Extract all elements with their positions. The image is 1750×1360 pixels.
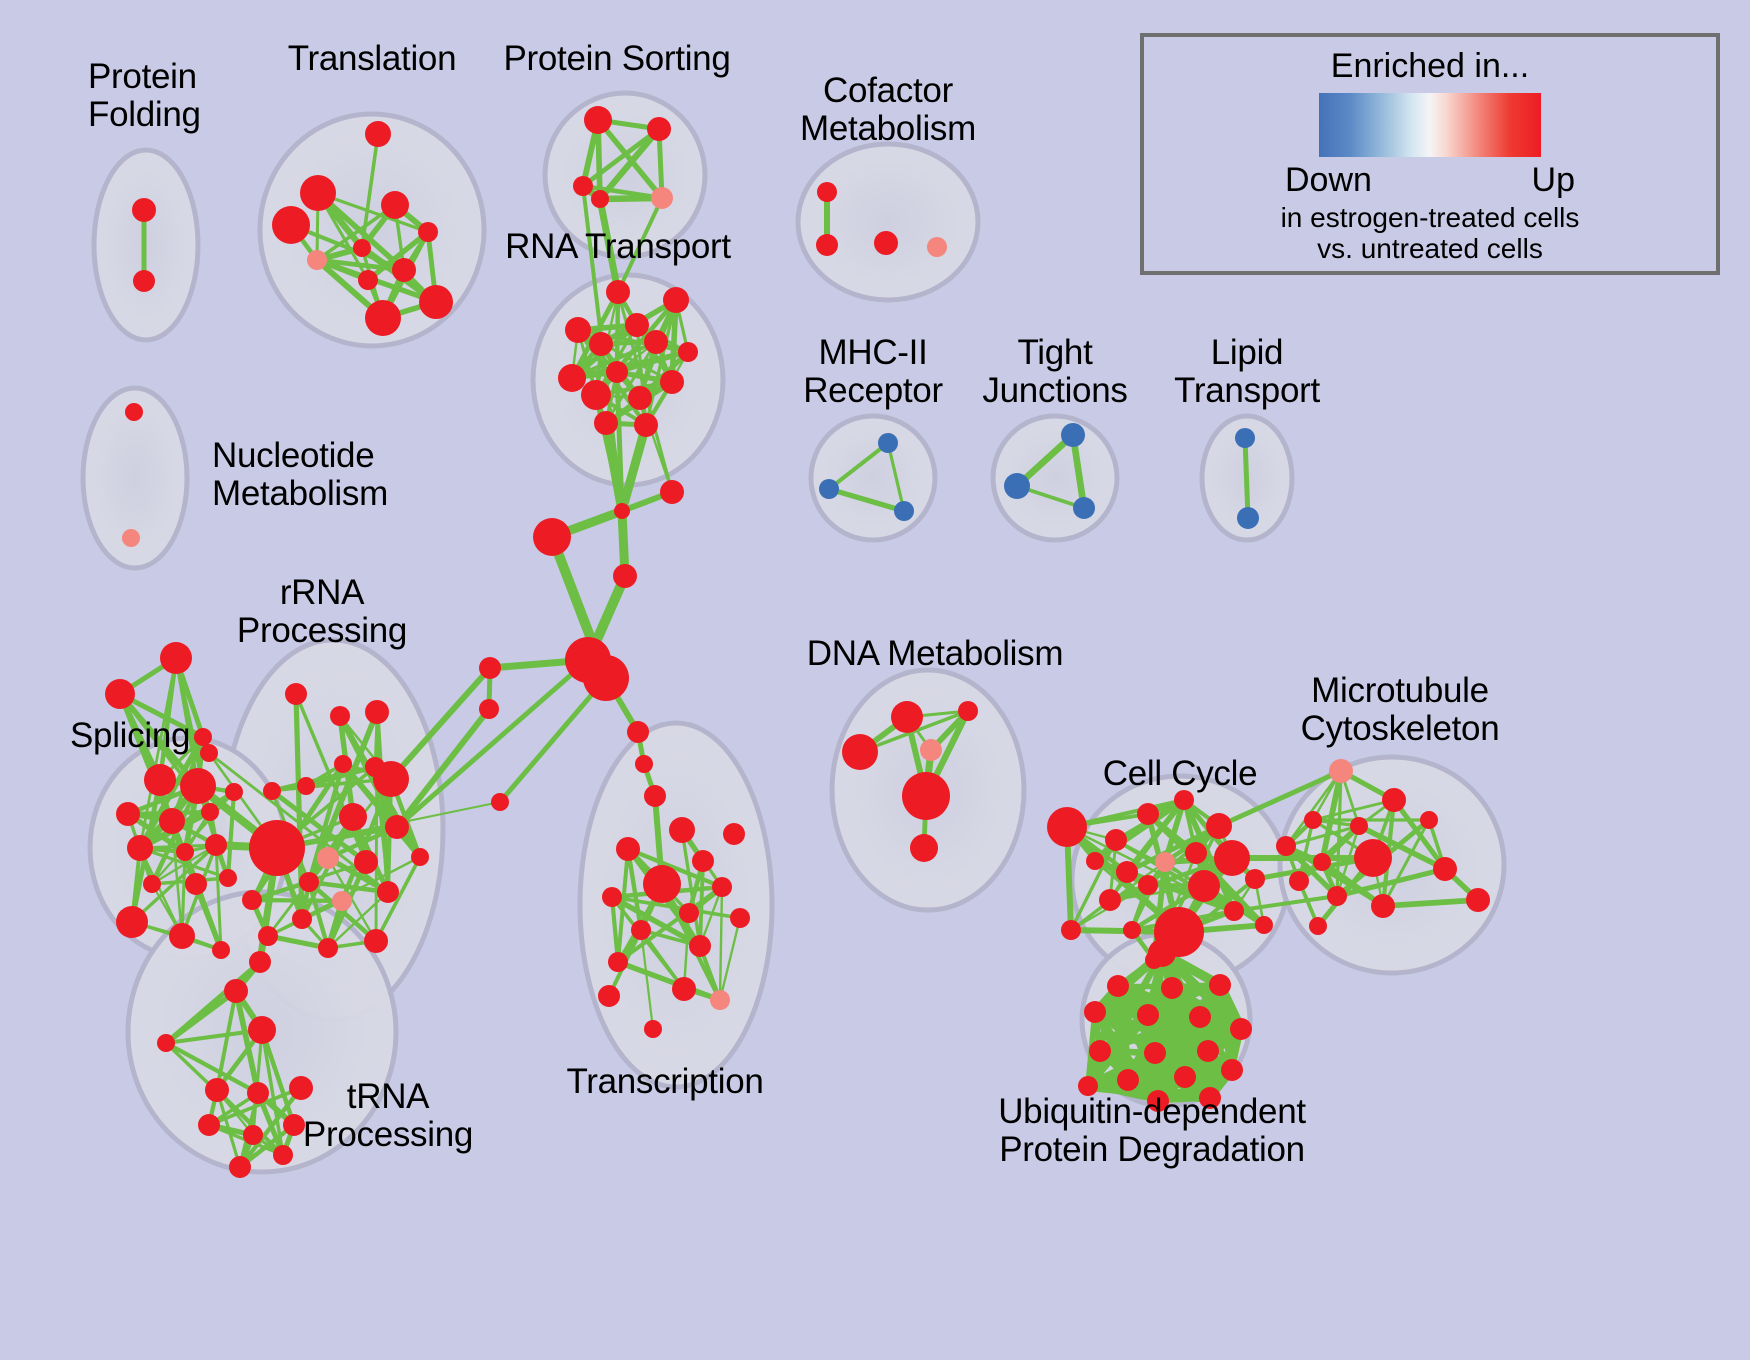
network-node[interactable] (842, 734, 878, 770)
network-node[interactable] (339, 803, 367, 831)
network-node[interactable] (318, 938, 338, 958)
network-node[interactable] (1185, 842, 1207, 864)
network-node[interactable] (692, 850, 714, 872)
cluster-label-lipid_transport: Lipid Transport (1174, 334, 1320, 410)
network-node[interactable] (565, 317, 591, 343)
network-node[interactable] (1047, 807, 1087, 847)
network-node[interactable] (643, 865, 681, 903)
network-node[interactable] (1224, 901, 1244, 921)
network-node[interactable] (1235, 428, 1255, 448)
network-node[interactable] (354, 850, 378, 874)
network-node[interactable] (1255, 916, 1273, 934)
legend-panel: Enriched in... Down Up in estrogen-treat… (1140, 33, 1720, 275)
network-node[interactable] (132, 198, 156, 222)
network-node[interactable] (1155, 852, 1175, 872)
cluster-label-rrna_processing: rRNA Processing (237, 574, 407, 650)
network-node[interactable] (1237, 507, 1259, 529)
network-node[interactable] (689, 935, 711, 957)
network-node[interactable] (292, 909, 312, 929)
network-node[interactable] (491, 793, 509, 811)
network-node[interactable] (1245, 869, 1265, 889)
network-node[interactable] (894, 501, 914, 521)
network-node[interactable] (105, 679, 135, 709)
network-node[interactable] (606, 280, 630, 304)
network-node[interactable] (1073, 497, 1095, 519)
network-node[interactable] (631, 920, 651, 940)
cluster-label-microtubule_cytoskeleton: Microtubule Cytoskeleton (1301, 672, 1500, 748)
network-node[interactable] (1309, 917, 1327, 935)
network-edge (1245, 438, 1248, 518)
network-node[interactable] (143, 875, 161, 893)
network-node[interactable] (710, 990, 730, 1010)
network-node[interactable] (1433, 857, 1457, 881)
network-node[interactable] (1105, 829, 1127, 851)
network-node[interactable] (169, 923, 195, 949)
cluster-label-ubiquitin_protein_degradation: Ubiquitin-dependent Protein Degradation (998, 1093, 1306, 1169)
cluster-label-trna_processing: tRNA Processing (303, 1078, 473, 1154)
network-node[interactable] (874, 231, 898, 255)
network-node[interactable] (910, 834, 938, 862)
network-node[interactable] (1206, 813, 1232, 839)
cluster-label-nucleotide_metabolism: Nucleotide Metabolism (212, 437, 388, 513)
network-node[interactable] (127, 835, 153, 861)
network-node[interactable] (606, 361, 628, 383)
network-node[interactable] (205, 1078, 229, 1102)
network-node[interactable] (242, 890, 262, 910)
network-node[interactable] (589, 332, 613, 356)
network-node[interactable] (185, 873, 207, 895)
network-node[interactable] (1138, 875, 1158, 895)
network-node[interactable] (625, 313, 649, 337)
network-node[interactable] (723, 823, 745, 845)
network-node[interactable] (1004, 473, 1030, 499)
network-node[interactable] (1382, 788, 1406, 812)
network-node[interactable] (122, 529, 140, 547)
network-node[interactable] (660, 480, 684, 504)
network-node[interactable] (1354, 839, 1392, 877)
network-node[interactable] (591, 190, 609, 208)
network-node[interactable] (1188, 870, 1220, 902)
network-node[interactable] (299, 872, 319, 892)
network-node[interactable] (651, 187, 673, 209)
network-node[interactable] (644, 785, 666, 807)
network-node[interactable] (258, 926, 278, 946)
network-edge (252, 900, 342, 901)
network-node[interactable] (1174, 1066, 1196, 1088)
network-node[interactable] (198, 1114, 220, 1136)
network-node[interactable] (133, 270, 155, 292)
network-node[interactable] (644, 330, 668, 354)
network-node[interactable] (219, 869, 237, 887)
network-node[interactable] (307, 250, 327, 270)
network-node[interactable] (1221, 1059, 1243, 1081)
network-node[interactable] (1084, 1001, 1106, 1023)
network-node[interactable] (212, 941, 230, 959)
network-node[interactable] (1116, 861, 1138, 883)
network-node[interactable] (581, 380, 611, 410)
network-node[interactable] (1304, 811, 1322, 829)
network-node[interactable] (1117, 1069, 1139, 1091)
cluster-label-translation: Translation (288, 40, 457, 78)
network-node[interactable] (332, 891, 352, 911)
network-node[interactable] (644, 1020, 662, 1038)
network-node[interactable] (558, 364, 586, 392)
network-node[interactable] (373, 761, 409, 797)
network-node[interactable] (608, 952, 628, 972)
network-node[interactable] (627, 721, 649, 743)
network-node[interactable] (1061, 920, 1081, 940)
network-node[interactable] (647, 117, 671, 141)
network-node[interactable] (1230, 1018, 1252, 1040)
network-node[interactable] (583, 655, 629, 701)
network-node[interactable] (479, 657, 501, 679)
network-node[interactable] (317, 847, 339, 869)
network-node[interactable] (920, 739, 942, 761)
network-node[interactable] (816, 234, 838, 256)
network-node[interactable] (1137, 1004, 1159, 1026)
network-node[interactable] (381, 191, 409, 219)
cluster-label-mhc_ii_receptor: MHC-II Receptor (803, 334, 943, 410)
network-node[interactable] (635, 755, 653, 773)
network-node[interactable] (273, 1145, 293, 1165)
network-node[interactable] (628, 386, 652, 410)
network-node[interactable] (159, 808, 185, 834)
network-node[interactable] (678, 342, 698, 362)
cluster-label-protein_sorting: Protein Sorting (503, 40, 730, 78)
network-node[interactable] (249, 951, 271, 973)
network-node[interactable] (283, 1114, 305, 1136)
network-node[interactable] (1420, 811, 1438, 829)
network-node[interactable] (891, 701, 923, 733)
network-node[interactable] (479, 699, 499, 719)
network-node[interactable] (1123, 921, 1141, 939)
network-node[interactable] (573, 176, 593, 196)
cluster-label-rna_transport: RNA Transport (505, 228, 731, 266)
network-node[interactable] (201, 803, 219, 821)
network-node[interactable] (1148, 939, 1176, 967)
network-node[interactable] (958, 701, 978, 721)
network-node[interactable] (1144, 1042, 1166, 1064)
network-node[interactable] (353, 239, 371, 257)
network-node[interactable] (594, 411, 618, 435)
network-node[interactable] (157, 1034, 175, 1052)
network-node[interactable] (300, 175, 336, 211)
legend-endpoints: Down Up (1285, 161, 1575, 200)
network-node[interactable] (533, 518, 571, 556)
network-node[interactable] (365, 700, 389, 724)
network-node[interactable] (176, 843, 194, 861)
network-node[interactable] (116, 906, 148, 938)
network-node[interactable] (679, 903, 699, 923)
network-node[interactable] (613, 564, 637, 588)
cluster-ellipse-mhc_ii_receptor (811, 416, 935, 540)
network-node[interactable] (194, 728, 212, 746)
network-node[interactable] (392, 258, 416, 282)
cluster-label-protein_folding: Protein Folding (88, 58, 201, 134)
network-node[interactable] (116, 802, 140, 826)
legend-low-label: Down (1285, 161, 1372, 200)
network-node[interactable] (205, 834, 227, 856)
network-node[interactable] (418, 222, 438, 242)
network-node[interactable] (1107, 975, 1129, 997)
network-node[interactable] (243, 1125, 263, 1145)
network-node[interactable] (385, 815, 409, 839)
network-node[interactable] (419, 285, 453, 319)
network-node[interactable] (180, 768, 216, 804)
network-node[interactable] (247, 1082, 269, 1104)
network-node[interactable] (330, 706, 350, 726)
network-node[interactable] (634, 413, 658, 437)
network-node[interactable] (1197, 1040, 1219, 1062)
network-node[interactable] (144, 764, 176, 796)
network-node[interactable] (125, 403, 143, 421)
network-node[interactable] (602, 887, 622, 907)
network-node[interactable] (1161, 977, 1183, 999)
network-node[interactable] (1089, 1040, 1111, 1062)
network-node[interactable] (672, 977, 696, 1001)
network-node[interactable] (730, 908, 750, 928)
cluster-label-cell_cycle: Cell Cycle (1103, 755, 1258, 793)
network-node[interactable] (1313, 853, 1331, 871)
network-node[interactable] (1174, 790, 1194, 810)
network-node[interactable] (160, 642, 192, 674)
network-node[interactable] (878, 433, 898, 453)
network-node[interactable] (669, 817, 695, 843)
network-node[interactable] (334, 755, 352, 773)
network-node[interactable] (1371, 894, 1395, 918)
legend-caption-line1: in estrogen-treated cells (1281, 202, 1580, 233)
network-node[interactable] (285, 683, 307, 705)
network-node[interactable] (1061, 423, 1085, 447)
network-node[interactable] (616, 837, 640, 861)
network-node[interactable] (377, 881, 399, 903)
network-node[interactable] (927, 237, 947, 257)
network-node[interactable] (1209, 974, 1231, 996)
network-node[interactable] (1276, 836, 1296, 856)
enrichment-map-figure: Protein FoldingTranslationProtein Sortin… (0, 0, 1750, 1360)
network-node[interactable] (225, 783, 243, 801)
network-node[interactable] (248, 1016, 276, 1044)
network-node[interactable] (1189, 1006, 1211, 1028)
network-node[interactable] (249, 820, 305, 876)
color-scale-bar (1319, 93, 1541, 157)
network-node[interactable] (365, 300, 401, 336)
network-node[interactable] (1327, 886, 1347, 906)
cluster-label-splicing: Splicing (70, 717, 190, 755)
network-node[interactable] (364, 929, 388, 953)
network-node[interactable] (598, 985, 620, 1007)
network-node[interactable] (660, 370, 684, 394)
network-node[interactable] (297, 777, 315, 795)
cluster-label-tight_junctions: Tight Junctions (982, 334, 1127, 410)
network-node[interactable] (1350, 817, 1368, 835)
network-node[interactable] (1086, 852, 1104, 870)
legend-title: Enriched in... (1331, 47, 1529, 86)
legend-high-label: Up (1532, 161, 1575, 200)
network-node[interactable] (200, 744, 218, 762)
network-node[interactable] (411, 848, 429, 866)
network-node[interactable] (229, 1156, 251, 1178)
network-node[interactable] (614, 503, 630, 519)
network-node[interactable] (1137, 803, 1159, 825)
network-node[interactable] (663, 287, 689, 313)
cluster-label-cofactor_metabolism: Cofactor Metabolism (800, 72, 976, 148)
legend-caption-line2: vs. untreated cells (1281, 233, 1580, 264)
network-node[interactable] (1466, 888, 1490, 912)
network-node[interactable] (358, 270, 378, 290)
network-node[interactable] (365, 121, 391, 147)
network-node[interactable] (1099, 889, 1121, 911)
network-edge (500, 678, 606, 802)
network-node[interactable] (1329, 759, 1353, 783)
cluster-label-dna_metabolism: DNA Metabolism (807, 635, 1063, 673)
network-node[interactable] (819, 479, 839, 499)
network-node[interactable] (263, 782, 281, 800)
network-node[interactable] (1214, 840, 1250, 876)
network-node[interactable] (902, 772, 950, 820)
network-node[interactable] (817, 182, 837, 202)
network-node[interactable] (584, 106, 612, 134)
network-node[interactable] (1289, 871, 1309, 891)
legend-caption: in estrogen-treated cells vs. untreated … (1281, 202, 1580, 265)
network-node[interactable] (224, 979, 248, 1003)
network-node[interactable] (712, 877, 732, 897)
network-node[interactable] (272, 206, 310, 244)
cluster-label-transcription: Transcription (566, 1063, 763, 1101)
